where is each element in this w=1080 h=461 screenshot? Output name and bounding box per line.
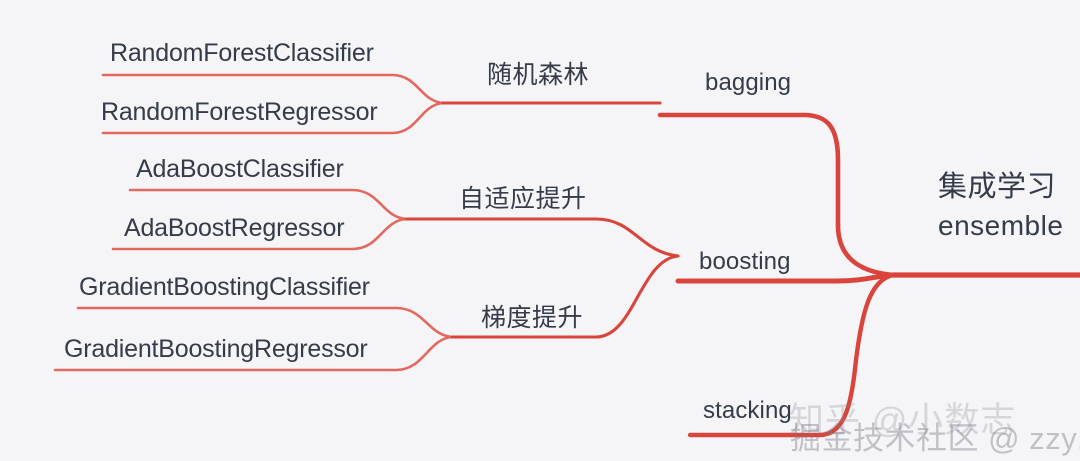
edge-bagging-underline <box>660 115 838 225</box>
leaf-label-random-forest-classifier: RandomForestClassifier <box>110 40 374 66</box>
edge-bagging-to-root <box>838 225 893 275</box>
edge-boosting-trunk <box>678 275 893 281</box>
leaf-label-adaboost-classifier: AdaBoostClassifier <box>136 156 344 182</box>
edge-stacking-to-root <box>820 275 893 435</box>
edge-adaptive-boosting-to-boosting <box>406 219 678 256</box>
leaf-label-random-forest-regressor: RandomForestRegressor <box>101 99 377 125</box>
root-label-cn: 集成学习 <box>938 172 1063 202</box>
node-label-adaptive-boosting: 自适应提升 <box>459 186 587 212</box>
node-label-bagging: bagging <box>705 70 791 95</box>
node-label-stacking: stacking <box>703 398 792 423</box>
node-label-gradient-boosting: 梯度提升 <box>481 305 583 331</box>
leaf-label-adaboost-regressor: AdaBoostRegressor <box>124 215 344 241</box>
node-label-random-forest: 随机森林 <box>487 62 589 88</box>
root-node: 集成学习 ensemble <box>938 172 1063 241</box>
leaf-label-gradient-boosting-regressor: GradientBoostingRegressor <box>64 336 368 362</box>
edge-leaf-gradient-boosting-classifier <box>78 308 452 337</box>
mind-map-canvas: RandomForestClassifier RandomForestRegre… <box>0 0 1080 461</box>
root-label-en: ensemble <box>938 211 1063 240</box>
leaf-label-gradient-boosting-classifier: GradientBoostingClassifier <box>79 274 370 300</box>
node-label-boosting: boosting <box>699 249 791 274</box>
